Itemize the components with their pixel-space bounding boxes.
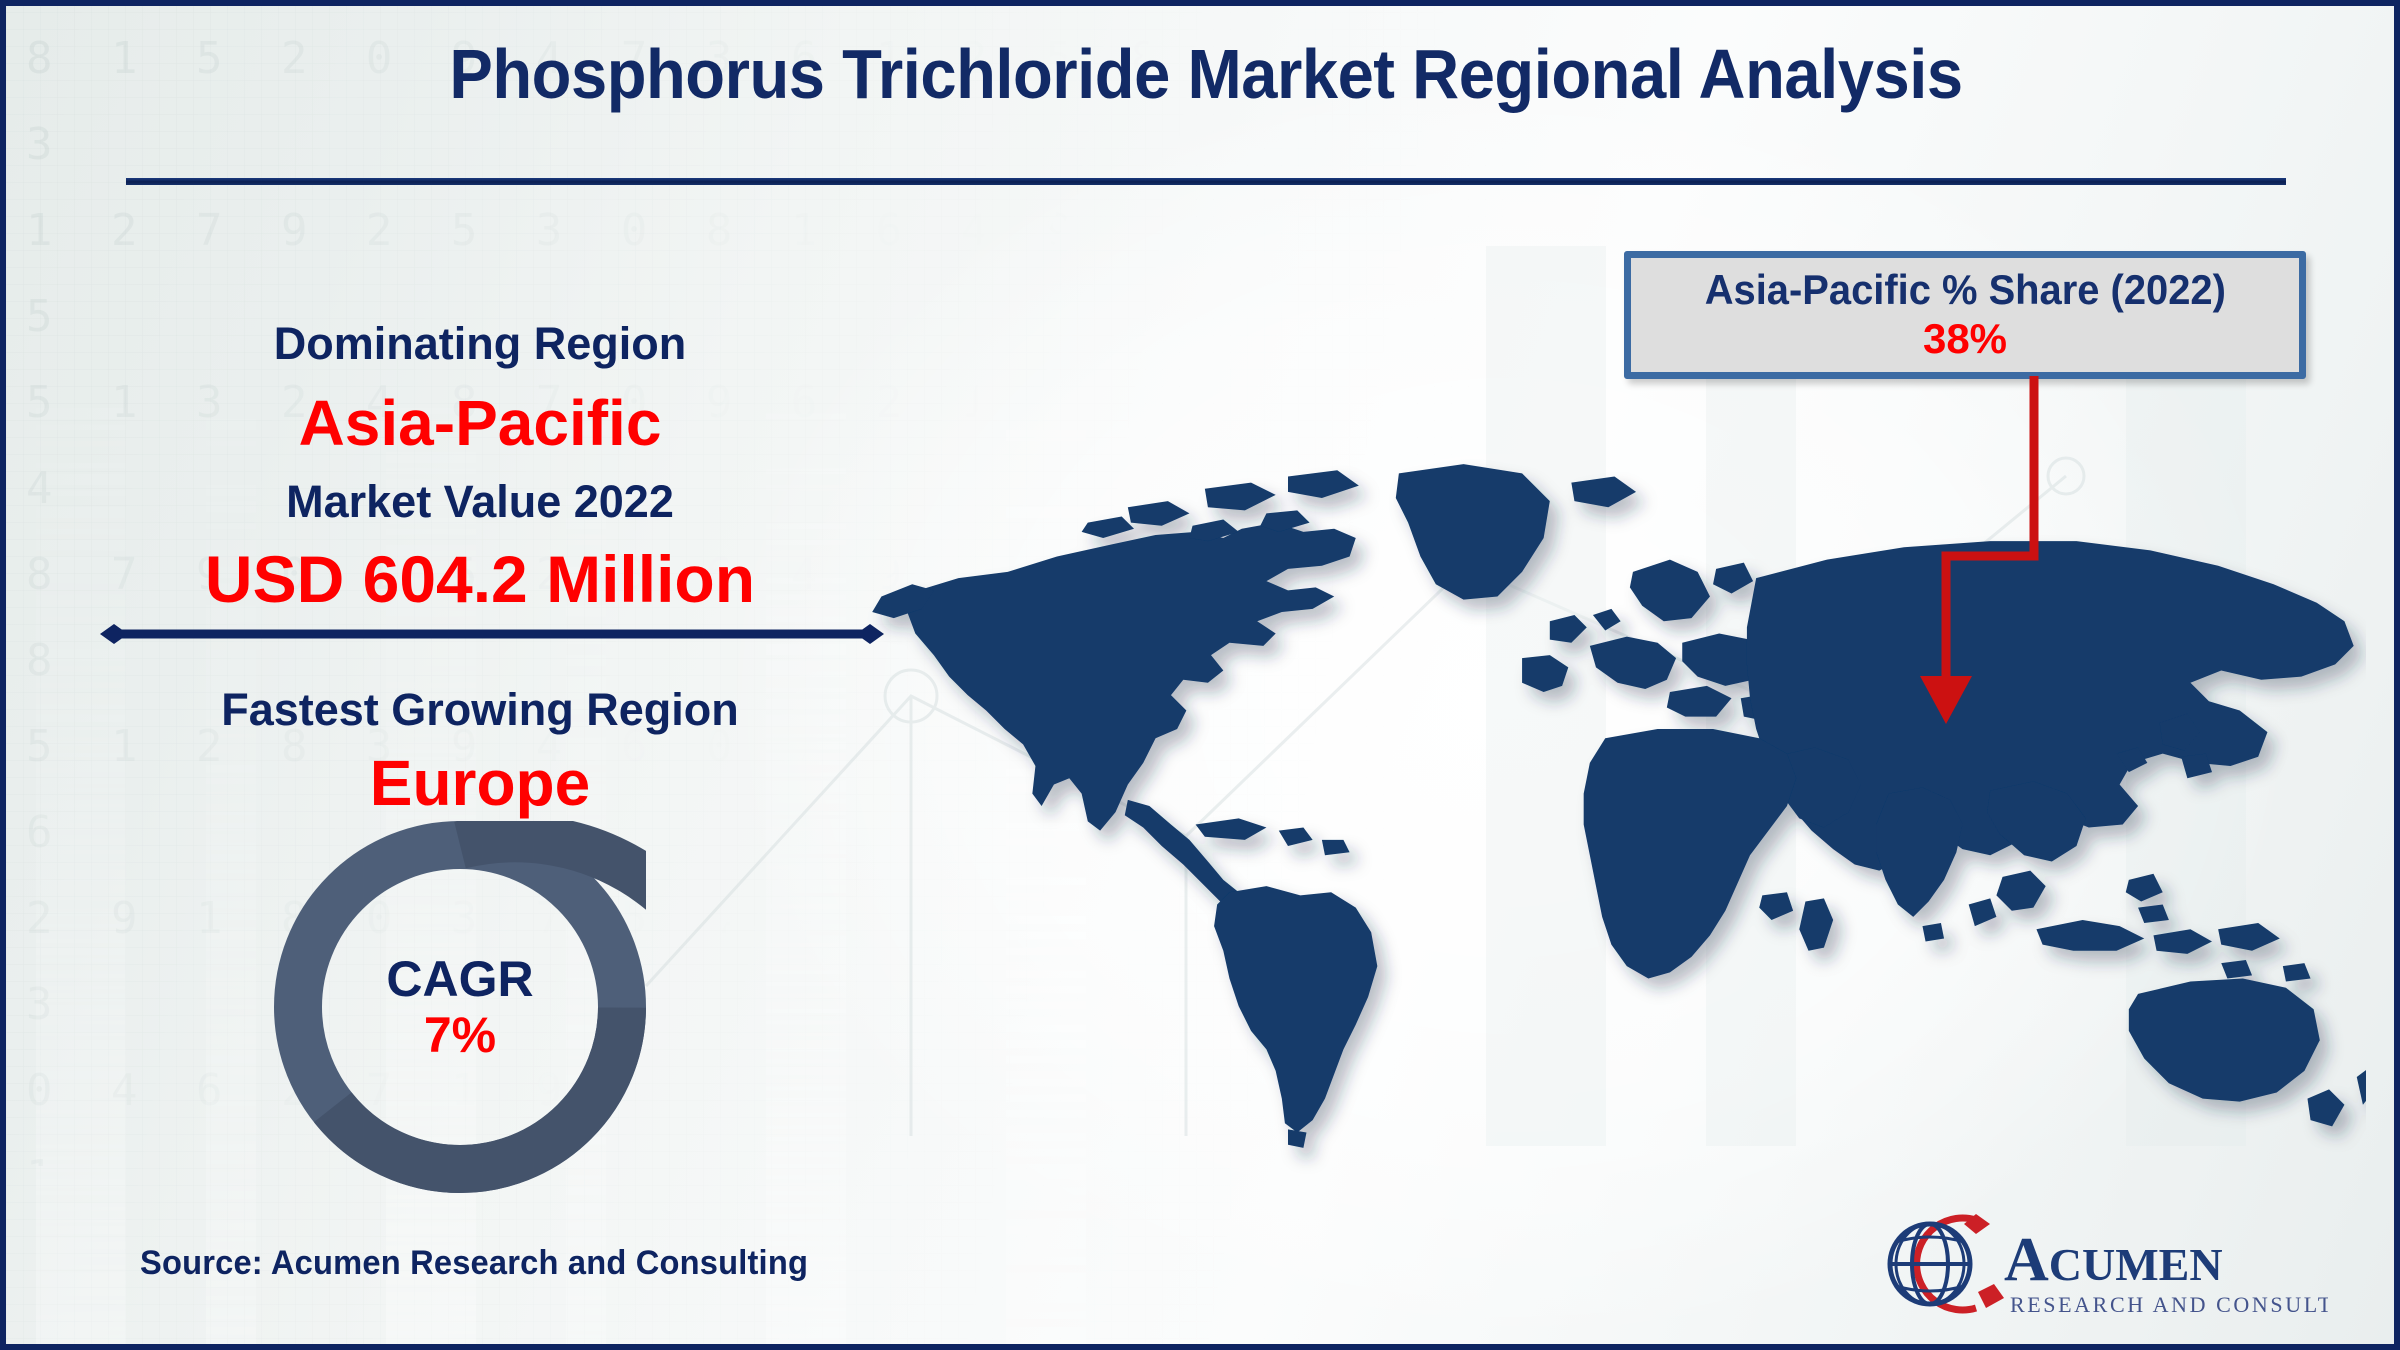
diamond-divider (94, 624, 890, 644)
globe-icon (1890, 1214, 2004, 1310)
infographic-canvas: 8 1 5 2 0 9 4 7 3 6 1 2 5 8 0 3 1 2 7 9 … (0, 0, 2400, 1350)
market-value-label: Market Value 2022 (30, 476, 930, 528)
dominating-region-value: Asia-Pacific (30, 386, 930, 460)
fastest-growing-region-value: Europe (30, 746, 930, 820)
logo-tagline: RESEARCH AND CONSULTING (2010, 1292, 2328, 1317)
cagr-value: 7% (424, 1010, 496, 1060)
logo-wordmark: ACUMEN (2004, 1226, 2223, 1294)
page-title: Phosphorus Trichloride Market Regional A… (90, 34, 2322, 114)
asia-pacific-share-callout: Asia-Pacific % Share (2022) 38% (1624, 251, 2306, 379)
cagr-donut-chart: CAGR 7% (274, 821, 646, 1193)
fastest-growing-region-label: Fastest Growing Region (30, 684, 930, 736)
market-value-value: USD 604.2 Million (30, 541, 930, 617)
acumen-logo: ACUMEN RESEARCH AND CONSULTING (1868, 1204, 2328, 1324)
title-divider (126, 178, 2286, 185)
callout-title: Asia-Pacific % Share (2022) (1704, 268, 2225, 312)
diamond-cap-left-icon (100, 624, 128, 644)
callout-arrow-icon (1846, 376, 2106, 736)
donut-center-text: CAGR 7% (274, 821, 646, 1193)
cagr-label: CAGR (386, 954, 533, 1004)
map-landmasses (872, 464, 2366, 1148)
callout-value: 38% (1923, 316, 2007, 362)
dominating-region-label: Dominating Region (30, 318, 930, 370)
source-credit: Source: Acumen Research and Consulting (140, 1244, 808, 1283)
world-map (826, 436, 2366, 1176)
